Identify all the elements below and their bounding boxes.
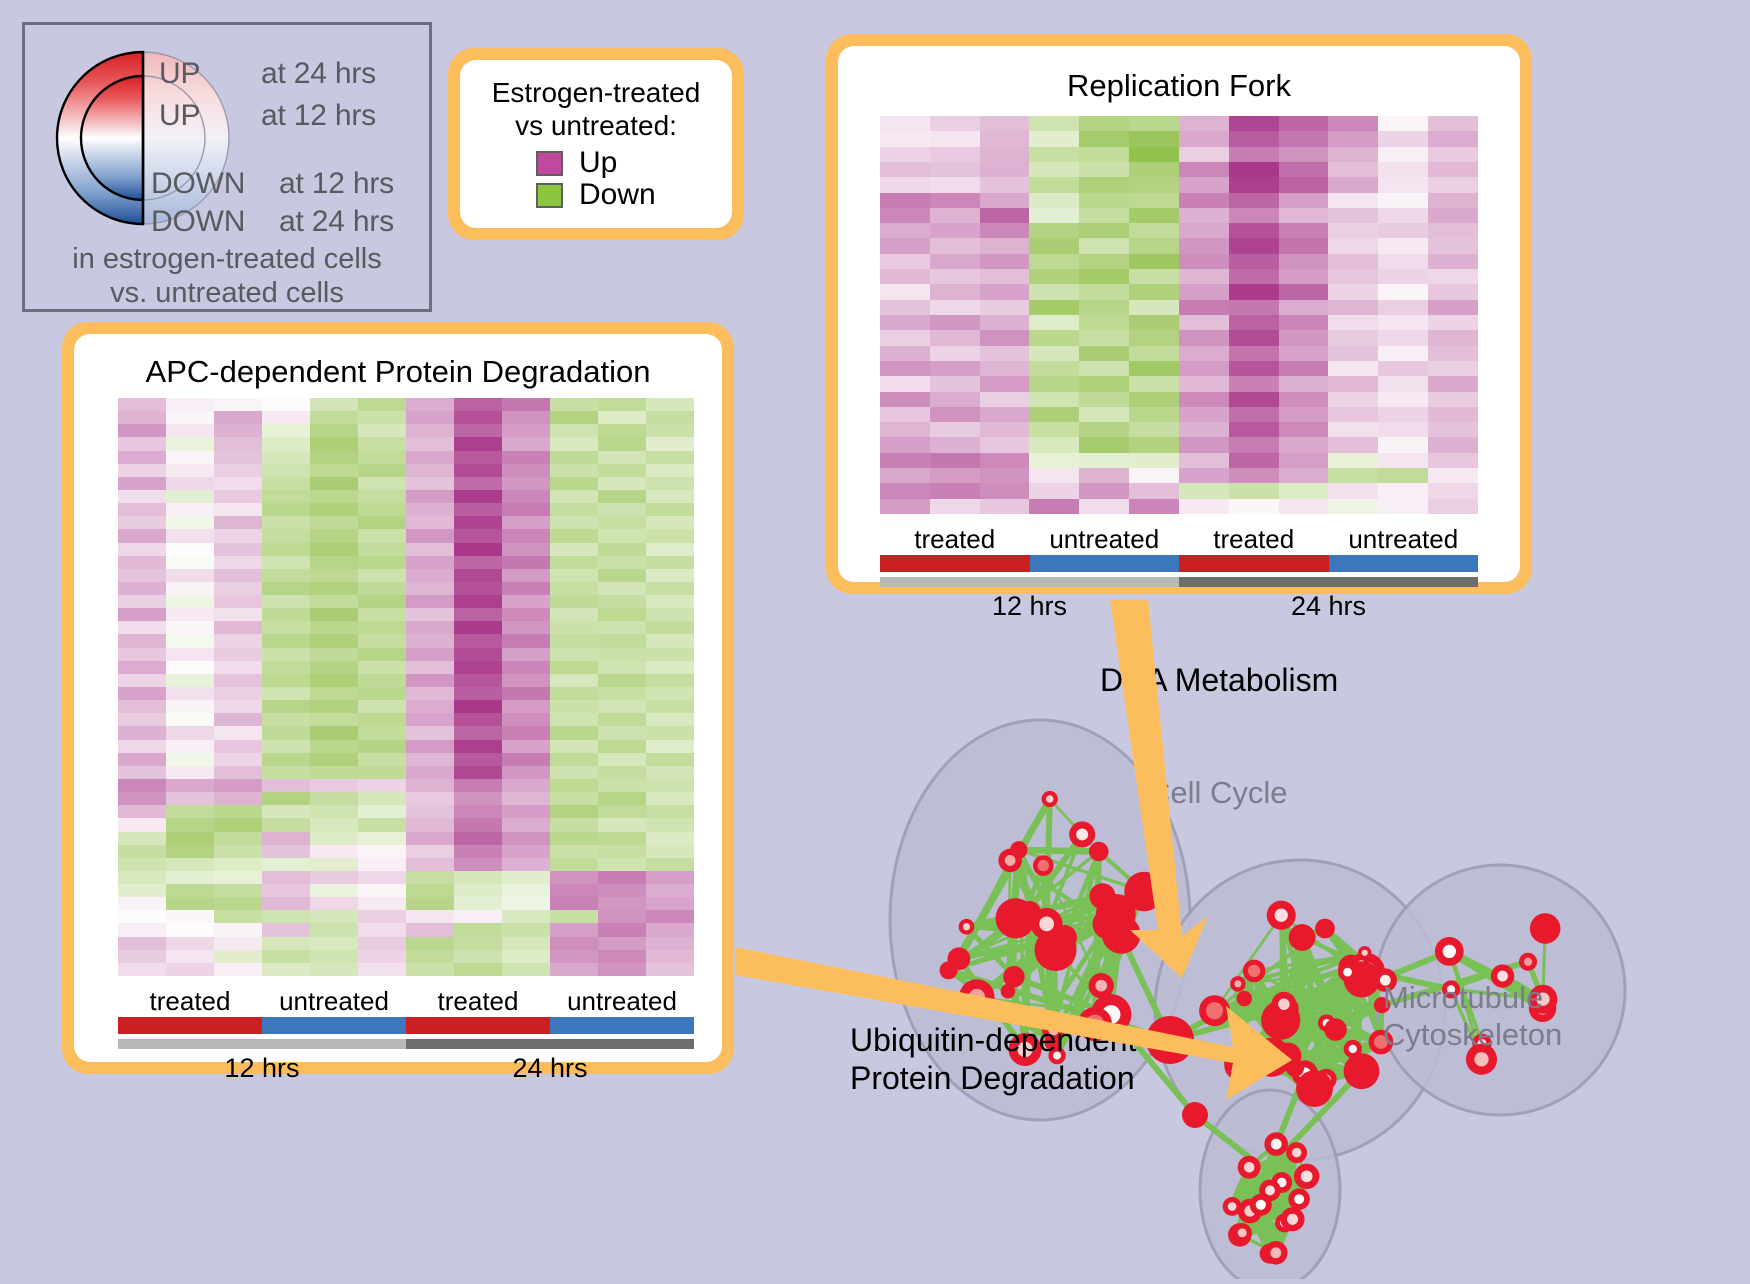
heatmap-cell bbox=[598, 621, 646, 634]
network-node[interactable] bbox=[1267, 901, 1296, 930]
heatmap-cell bbox=[118, 503, 166, 516]
heatmap-cell bbox=[930, 407, 980, 422]
heatmap-cell bbox=[454, 621, 502, 634]
heatmap-cell bbox=[310, 884, 358, 897]
network-node[interactable] bbox=[1275, 1043, 1302, 1070]
network-node[interactable] bbox=[1435, 937, 1464, 966]
heatmap-cell bbox=[310, 713, 358, 726]
heatmap-cell bbox=[1279, 284, 1329, 299]
network-node[interactable] bbox=[998, 849, 1022, 873]
network-node[interactable] bbox=[1102, 915, 1141, 954]
heatmap-cell bbox=[310, 726, 358, 739]
heatmap-cell bbox=[118, 740, 166, 753]
heatmap-cell bbox=[214, 858, 262, 871]
heatmap-cell bbox=[502, 805, 550, 818]
heatmap-cell bbox=[1279, 223, 1329, 238]
heatmap-cell bbox=[358, 503, 406, 516]
heatmap-cell bbox=[930, 131, 980, 146]
treatment-bar bbox=[880, 555, 1030, 572]
heatmap-cell bbox=[1129, 147, 1179, 162]
heatmap-cell bbox=[1129, 131, 1179, 146]
heatmap-cell bbox=[598, 845, 646, 858]
heatmap-cell bbox=[214, 897, 262, 910]
heatmap-cell bbox=[1378, 483, 1428, 498]
heatmap-cell bbox=[1279, 193, 1329, 208]
heatmap-cell bbox=[1328, 361, 1378, 376]
heatmap-cell bbox=[406, 753, 454, 766]
heatmap-cell bbox=[550, 503, 598, 516]
heatmap-cell bbox=[166, 740, 214, 753]
heatmap-cell bbox=[1029, 376, 1079, 391]
heatmap-cell bbox=[1179, 208, 1229, 223]
network-node[interactable] bbox=[1199, 995, 1230, 1026]
heatmap-cell bbox=[166, 726, 214, 739]
heatmap-cell bbox=[118, 687, 166, 700]
heatmap-cell bbox=[1029, 499, 1079, 514]
heatmap-cell bbox=[118, 634, 166, 647]
heatmap-cell bbox=[310, 700, 358, 713]
heatmap-cell bbox=[166, 805, 214, 818]
network-node[interactable] bbox=[948, 947, 971, 970]
key-label-direction-3: DOWN bbox=[151, 205, 245, 239]
heatmap-cell bbox=[980, 193, 1030, 208]
heatmap-cell bbox=[454, 950, 502, 963]
heatmap-cell bbox=[1079, 453, 1129, 468]
network-node[interactable] bbox=[1338, 963, 1357, 982]
network-node[interactable] bbox=[1182, 1102, 1208, 1128]
heatmap-cell bbox=[646, 792, 694, 805]
heatmap-cell bbox=[550, 490, 598, 503]
heatmap-cell bbox=[262, 634, 310, 647]
figure-canvas: UP at 24 hrs UP at 12 hrs DOWN at 12 hrs… bbox=[0, 0, 1750, 1279]
legend-label-down: Down bbox=[579, 180, 656, 210]
heatmap-cell bbox=[1279, 330, 1329, 345]
heatmap-cell bbox=[358, 529, 406, 542]
network-node[interactable] bbox=[1011, 911, 1032, 932]
heatmap-cell bbox=[646, 661, 694, 674]
heatmap-cell bbox=[502, 398, 550, 411]
heatmap-cell bbox=[406, 963, 454, 976]
heatmap-cell bbox=[1129, 346, 1179, 361]
heatmap-cell bbox=[406, 477, 454, 490]
heatmap-cell bbox=[550, 543, 598, 556]
heatmap-cell bbox=[930, 453, 980, 468]
network-node[interactable] bbox=[959, 919, 975, 935]
heatmap-cell bbox=[980, 468, 1030, 483]
heatmap-cell bbox=[454, 634, 502, 647]
heatmap-cell bbox=[406, 832, 454, 845]
heatmap-cell bbox=[406, 503, 454, 516]
heatmap-cell bbox=[1279, 254, 1329, 269]
heatmap-cell bbox=[310, 569, 358, 582]
heatmap-cell bbox=[1129, 193, 1179, 208]
network-node[interactable] bbox=[1089, 973, 1114, 998]
heatmap-cell bbox=[502, 582, 550, 595]
heatmap-cell bbox=[550, 832, 598, 845]
heatmap-cell bbox=[1179, 300, 1229, 315]
heatmap-cell bbox=[262, 858, 310, 871]
heatmap-cell bbox=[1428, 407, 1478, 422]
heatmap-cell bbox=[262, 661, 310, 674]
heatmap-cell bbox=[166, 858, 214, 871]
heatmap-cell bbox=[646, 464, 694, 477]
heatmap-cell bbox=[358, 805, 406, 818]
heatmap-cell bbox=[550, 779, 598, 792]
heatmap-cell bbox=[550, 569, 598, 582]
heatmap-cell bbox=[1229, 177, 1279, 192]
heatmap-cell bbox=[646, 937, 694, 950]
heatmap-cell bbox=[310, 595, 358, 608]
heatmap-cell bbox=[1179, 468, 1229, 483]
network-node[interactable] bbox=[1315, 919, 1335, 939]
group-label: untreated bbox=[550, 986, 694, 1017]
heatmap-cell bbox=[214, 398, 262, 411]
heatmap-cell bbox=[166, 845, 214, 858]
heatmap-cell bbox=[502, 726, 550, 739]
heatmap-cell bbox=[1428, 284, 1478, 299]
heatmap-cell bbox=[1129, 300, 1179, 315]
heatmap-cell bbox=[1428, 315, 1478, 330]
cluster-label-dna-metabolism: DNA Metabolism bbox=[1100, 662, 1338, 700]
heatmap-cell bbox=[1428, 147, 1478, 162]
heatmap-cell bbox=[646, 648, 694, 661]
heatmap-cell bbox=[1229, 392, 1279, 407]
heatmap-cell bbox=[502, 648, 550, 661]
heatmap-cell bbox=[166, 648, 214, 661]
timepoint-bar bbox=[1179, 577, 1478, 587]
heatmap-cell bbox=[166, 779, 214, 792]
heatmap-cell bbox=[118, 661, 166, 674]
heatmap-cell bbox=[166, 674, 214, 687]
heatmap-cell bbox=[310, 411, 358, 424]
heatmap-cell bbox=[214, 923, 262, 936]
network-node[interactable] bbox=[1031, 908, 1063, 940]
group-label: untreated bbox=[262, 986, 406, 1017]
network-node[interactable] bbox=[1230, 976, 1245, 991]
heatmap-cell bbox=[1029, 330, 1079, 345]
heatmap-cell bbox=[502, 451, 550, 464]
heatmap-cell bbox=[646, 845, 694, 858]
heatmap-cell bbox=[598, 608, 646, 621]
heatmap-cell bbox=[214, 726, 262, 739]
network-node[interactable] bbox=[1286, 1142, 1307, 1163]
heatmap-cell bbox=[454, 832, 502, 845]
heatmap-cell bbox=[880, 315, 930, 330]
heatmap-cell bbox=[214, 805, 262, 818]
heatmap-cell bbox=[454, 740, 502, 753]
heatmap-cell bbox=[1129, 223, 1179, 238]
network-node[interactable] bbox=[1033, 855, 1054, 876]
network-node[interactable] bbox=[1233, 1223, 1252, 1242]
network-node[interactable] bbox=[1243, 960, 1266, 983]
heatmap-cell bbox=[454, 608, 502, 621]
heatmap-cell bbox=[980, 392, 1030, 407]
network-node[interactable] bbox=[1069, 821, 1095, 847]
network-edge bbox=[1019, 850, 1099, 852]
heatmap-cell bbox=[358, 621, 406, 634]
heatmap-cell bbox=[214, 516, 262, 529]
heatmap-cell bbox=[1279, 116, 1329, 131]
heatmap-cell bbox=[118, 950, 166, 963]
heatmap-cell bbox=[214, 832, 262, 845]
heatmap-cell bbox=[118, 621, 166, 634]
heatmap-cell bbox=[1179, 376, 1229, 391]
heatmap-cell bbox=[406, 871, 454, 884]
heatmap-cell bbox=[646, 451, 694, 464]
heatmap-cell bbox=[502, 490, 550, 503]
heatmap-cell bbox=[310, 805, 358, 818]
network-node[interactable] bbox=[1223, 1197, 1242, 1216]
heatmap-cell bbox=[1129, 407, 1179, 422]
heatmap-cell bbox=[118, 398, 166, 411]
heatmap-cell bbox=[502, 713, 550, 726]
heatmap-cell bbox=[118, 897, 166, 910]
heatmap-cell bbox=[358, 923, 406, 936]
heatmap-cell bbox=[980, 208, 1030, 223]
heatmap-cell bbox=[166, 792, 214, 805]
heatmap-cell bbox=[118, 516, 166, 529]
heatmap-cell bbox=[598, 910, 646, 923]
heatmap-cell bbox=[1229, 254, 1279, 269]
treatment-bar bbox=[550, 1017, 694, 1034]
heatmap-cell bbox=[1428, 330, 1478, 345]
heatmap-cell bbox=[1079, 437, 1129, 452]
heatmap-cell bbox=[1079, 116, 1129, 131]
heatmap-cell bbox=[118, 464, 166, 477]
heatmap-cell bbox=[406, 516, 454, 529]
heatmap-cell bbox=[1129, 361, 1179, 376]
heatmap-cell bbox=[1328, 392, 1378, 407]
network-node[interactable] bbox=[1250, 1194, 1272, 1216]
heatmap-cell bbox=[1229, 407, 1279, 422]
heatmap-cell bbox=[598, 753, 646, 766]
heatmap-cell bbox=[980, 346, 1030, 361]
heatmap-cell bbox=[262, 516, 310, 529]
heatmap-cell bbox=[1378, 147, 1428, 162]
heatmap-cell bbox=[880, 376, 930, 391]
heatmap-cell bbox=[1378, 407, 1428, 422]
heatmap-cell bbox=[406, 621, 454, 634]
network-node[interactable] bbox=[1228, 1057, 1245, 1074]
heatmap-cell bbox=[1029, 284, 1079, 299]
heatmap-cell bbox=[502, 437, 550, 450]
network-node[interactable] bbox=[1042, 791, 1058, 807]
heatmap-cell bbox=[406, 923, 454, 936]
heatmap-cell bbox=[502, 897, 550, 910]
apc-treatment-bars bbox=[118, 1017, 694, 1034]
heatmap-cell bbox=[598, 884, 646, 897]
heatmap-cell bbox=[1328, 284, 1378, 299]
heatmap-cell bbox=[166, 543, 214, 556]
network-node[interactable] bbox=[1530, 913, 1561, 944]
network-node[interactable] bbox=[1089, 842, 1109, 862]
legend-swatch-up-icon bbox=[536, 151, 563, 176]
heatmap-cell bbox=[358, 779, 406, 792]
treatment-bar bbox=[406, 1017, 550, 1034]
heatmap-cell bbox=[1079, 468, 1129, 483]
heatmap-cell bbox=[454, 897, 502, 910]
heatmap-cell bbox=[214, 424, 262, 437]
heatmap-cell bbox=[502, 503, 550, 516]
heatmap-cell bbox=[550, 753, 598, 766]
heatmap-cell bbox=[550, 398, 598, 411]
heatmap-cell bbox=[262, 897, 310, 910]
network-node[interactable] bbox=[1294, 1164, 1319, 1189]
apc-group-labels: treateduntreatedtreateduntreated bbox=[118, 986, 694, 1017]
heatmap-cell bbox=[358, 569, 406, 582]
network-node[interactable] bbox=[1324, 1018, 1347, 1041]
heatmap-cell bbox=[598, 792, 646, 805]
apc-degradation-heatmap bbox=[118, 398, 694, 976]
key-footer-line-2: vs. untreated cells bbox=[25, 277, 429, 310]
heatmap-cell bbox=[1378, 437, 1428, 452]
heatmap-cell bbox=[598, 766, 646, 779]
heatmap-cell bbox=[646, 910, 694, 923]
heatmap-cell bbox=[1279, 315, 1329, 330]
heatmap-cell bbox=[358, 845, 406, 858]
heatmap-cell bbox=[166, 687, 214, 700]
timepoint-bar bbox=[118, 1039, 406, 1049]
heatmap-cell bbox=[598, 516, 646, 529]
network-node[interactable] bbox=[1281, 1207, 1305, 1231]
network-node[interactable] bbox=[959, 979, 995, 1015]
network-node[interactable] bbox=[1519, 953, 1537, 971]
heatmap-cell bbox=[880, 499, 930, 514]
heatmap-cell bbox=[1428, 269, 1478, 284]
heatmap-cell bbox=[118, 424, 166, 437]
heatmap-cell bbox=[1378, 131, 1428, 146]
group-label: treated bbox=[1179, 524, 1329, 555]
heatmap-cell bbox=[118, 923, 166, 936]
heatmap-cell bbox=[502, 858, 550, 871]
heatmap-cell bbox=[358, 937, 406, 950]
network-node[interactable] bbox=[1237, 991, 1252, 1006]
heatmap-cell bbox=[1129, 483, 1179, 498]
heatmap-cell bbox=[166, 713, 214, 726]
heatmap-cell bbox=[646, 582, 694, 595]
heatmap-cell bbox=[980, 437, 1030, 452]
heatmap-cell bbox=[1229, 162, 1279, 177]
network-node[interactable] bbox=[1345, 1059, 1373, 1087]
heatmap-cell bbox=[214, 503, 262, 516]
heatmap-cell bbox=[310, 556, 358, 569]
network-node[interactable] bbox=[1146, 1016, 1194, 1064]
heatmap-cell bbox=[1179, 437, 1229, 452]
heatmap-cell bbox=[214, 950, 262, 963]
heatmap-cell bbox=[1378, 162, 1428, 177]
heatmap-cell bbox=[118, 779, 166, 792]
heatmap-cell bbox=[550, 621, 598, 634]
heatmap-cell bbox=[1229, 376, 1279, 391]
heatmap-cell bbox=[262, 700, 310, 713]
heatmap-cell bbox=[980, 238, 1030, 253]
heatmap-cell bbox=[1029, 392, 1079, 407]
heatmap-cell bbox=[550, 871, 598, 884]
heatmap-cell bbox=[214, 451, 262, 464]
heatmap-cell bbox=[598, 937, 646, 950]
heatmap-cell bbox=[502, 963, 550, 976]
heatmap-cell bbox=[310, 897, 358, 910]
heatmap-cell bbox=[550, 516, 598, 529]
heatmap-cell bbox=[598, 477, 646, 490]
heatmap-cell bbox=[310, 529, 358, 542]
heatmap-cell bbox=[166, 910, 214, 923]
heatmap-cell bbox=[1129, 453, 1179, 468]
heatmap-cell bbox=[502, 634, 550, 647]
network-node[interactable] bbox=[1003, 966, 1024, 987]
heatmap-cell bbox=[1328, 147, 1378, 162]
heatmap-cell bbox=[1428, 254, 1478, 269]
heatmap-cell bbox=[454, 490, 502, 503]
heatmap-cell bbox=[406, 634, 454, 647]
heatmap-cell bbox=[880, 437, 930, 452]
network-node[interactable] bbox=[1296, 1070, 1333, 1107]
heatmap-cell bbox=[166, 503, 214, 516]
heatmap-cell bbox=[598, 556, 646, 569]
heatmap-cell bbox=[598, 503, 646, 516]
heatmap-cell bbox=[980, 116, 1030, 131]
network-node[interactable] bbox=[1264, 1132, 1288, 1156]
network-node[interactable] bbox=[1289, 924, 1316, 951]
heatmap-cell bbox=[502, 871, 550, 884]
heatmap-cell bbox=[646, 477, 694, 490]
heatmap-cell bbox=[262, 792, 310, 805]
heatmap-cell bbox=[1079, 376, 1129, 391]
heatmap-cell bbox=[406, 687, 454, 700]
heatmap-cell bbox=[1179, 407, 1229, 422]
heatmap-cell bbox=[1378, 193, 1428, 208]
heatmap-cell bbox=[1079, 284, 1129, 299]
heatmap-cell bbox=[1079, 131, 1129, 146]
heatmap-cell bbox=[1229, 147, 1279, 162]
heatmap-cell bbox=[1328, 269, 1378, 284]
network-node[interactable] bbox=[1238, 1156, 1261, 1179]
heatmap-cell bbox=[118, 818, 166, 831]
heatmap-cell bbox=[646, 503, 694, 516]
network-node[interactable] bbox=[1264, 1241, 1288, 1265]
heatmap-cell bbox=[502, 910, 550, 923]
heatmap-cell bbox=[118, 910, 166, 923]
heatmap-cell bbox=[598, 543, 646, 556]
heatmap-cell bbox=[214, 634, 262, 647]
heatmap-cell bbox=[262, 595, 310, 608]
heatmap-cell bbox=[310, 634, 358, 647]
heatmap-cell bbox=[1328, 254, 1378, 269]
legend-item-down: Down bbox=[536, 180, 722, 210]
network-node[interactable] bbox=[1271, 992, 1296, 1017]
heatmap-cell bbox=[930, 193, 980, 208]
heatmap-cell bbox=[214, 818, 262, 831]
heatmap-cell bbox=[598, 687, 646, 700]
network-node[interactable] bbox=[1288, 1188, 1310, 1210]
heatmap-cell bbox=[358, 884, 406, 897]
heatmap-cell bbox=[262, 845, 310, 858]
heatmap-cell bbox=[262, 884, 310, 897]
heatmap-cell bbox=[880, 131, 930, 146]
heatmap-cell bbox=[646, 634, 694, 647]
heatmap-cell bbox=[1179, 361, 1229, 376]
heatmap-cell bbox=[310, 451, 358, 464]
heatmap-cell bbox=[310, 910, 358, 923]
heatmap-cell bbox=[214, 700, 262, 713]
heatmap-cell bbox=[1328, 208, 1378, 223]
heatmap-cell bbox=[406, 792, 454, 805]
heatmap-cell bbox=[930, 346, 980, 361]
heatmap-cell bbox=[214, 621, 262, 634]
heatmap-cell bbox=[646, 569, 694, 582]
heatmap-cell bbox=[1279, 177, 1329, 192]
heatmap-cell bbox=[1029, 422, 1079, 437]
